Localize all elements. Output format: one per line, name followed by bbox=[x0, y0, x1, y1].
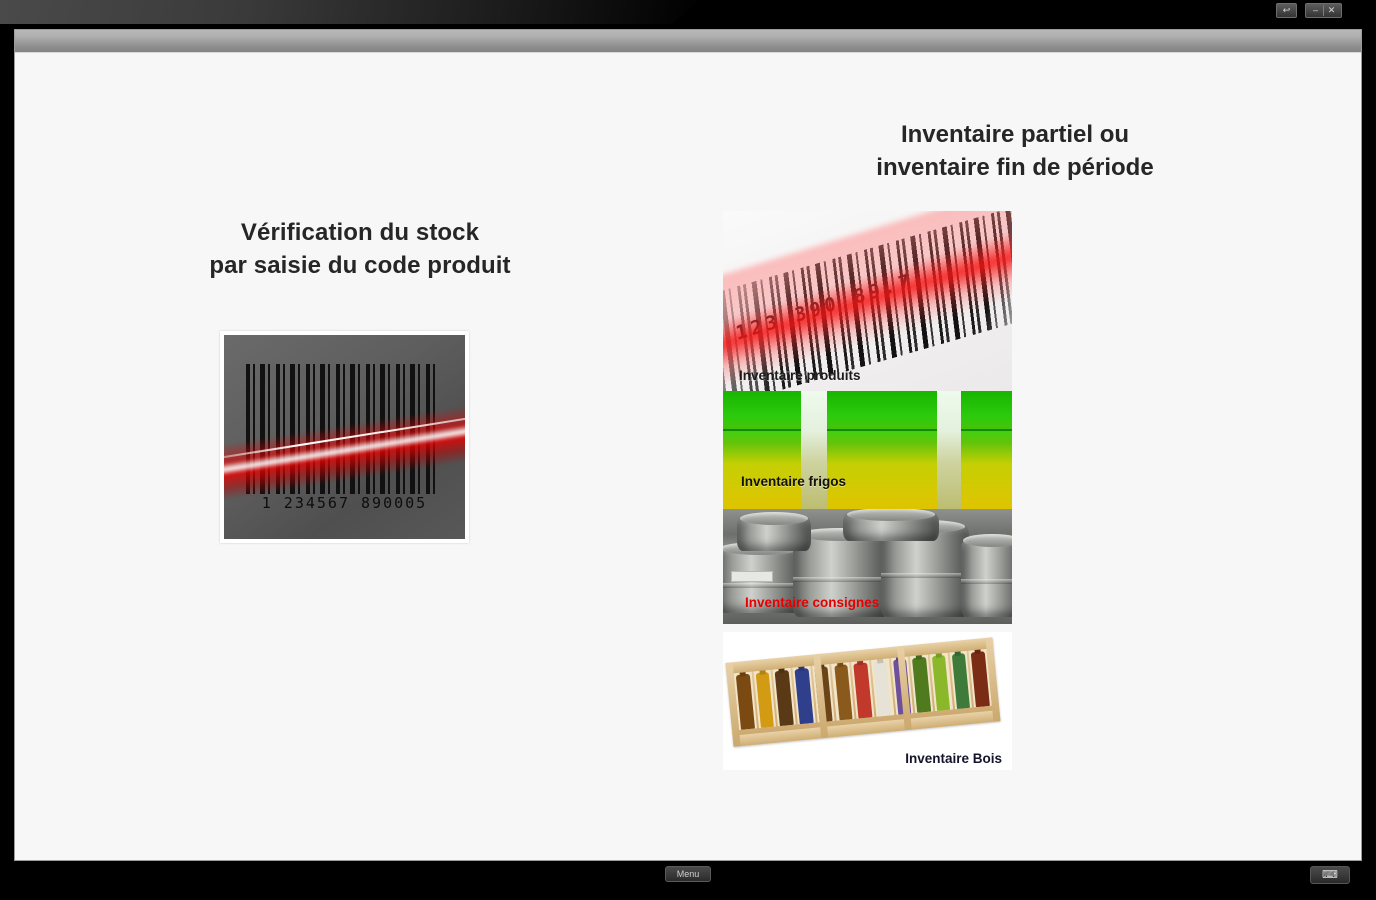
system-bottom-bar: Menu ⌨ bbox=[0, 862, 1376, 900]
keyboard-toggle-button[interactable]: ⌨ bbox=[1310, 866, 1350, 884]
close-icon[interactable]: ✕ bbox=[1324, 4, 1339, 17]
barcode-photo: 123 390 89.7 bbox=[723, 211, 1012, 391]
bezel-sheen bbox=[0, 0, 700, 24]
inventory-tile-frigos[interactable]: Inventaire frigos bbox=[723, 391, 1012, 509]
window-controls: ↩ – ✕ bbox=[1276, 3, 1342, 18]
inventory-tile-label: Inventaire consignes bbox=[745, 595, 879, 610]
inventory-tile-label: Inventaire frigos bbox=[741, 474, 846, 489]
inventory-tile-label: Inventaire produits bbox=[739, 368, 861, 383]
window-buttons-group: – ✕ bbox=[1305, 3, 1342, 18]
inventory-title: Inventaire partiel ou inventaire fin de … bbox=[705, 118, 1325, 184]
stock-check-title: Vérification du stock par saisie du code… bbox=[15, 216, 705, 282]
inventory-tile-label: Inventaire Bois bbox=[905, 751, 1002, 766]
barcode-digits: 1 234567 890005 bbox=[243, 494, 445, 512]
device-frame: ↩ – ✕ Vérification du stock par saisie d… bbox=[0, 0, 1376, 900]
menu-button[interactable]: Menu bbox=[665, 866, 711, 882]
barcode-illustration: 1 234567 890005 bbox=[224, 335, 465, 539]
inventory-tile-bois[interactable]: Inventaire Bois bbox=[723, 632, 1012, 770]
barcode-scan-button[interactable]: 1 234567 890005 bbox=[220, 331, 469, 543]
app-content: Vérification du stock par saisie du code… bbox=[15, 53, 1361, 861]
keyboard-icon: ⌨ bbox=[1322, 870, 1338, 881]
minimize-icon[interactable]: – bbox=[1308, 4, 1323, 17]
back-icon[interactable]: ↩ bbox=[1279, 4, 1294, 17]
inventory-tile-consignes[interactable]: Inventaire consignes bbox=[723, 509, 1012, 624]
inventory-tile-produits[interactable]: 123 390 89.7 Inventaire produits bbox=[723, 211, 1012, 391]
stock-check-panel: Vérification du stock par saisie du code… bbox=[15, 53, 705, 861]
inventory-panel: Inventaire partiel ou inventaire fin de … bbox=[705, 53, 1362, 861]
wooden-crate-photo bbox=[726, 637, 1001, 746]
inventory-tile-list: 123 390 89.7 Inventaire produits bbox=[723, 211, 1012, 770]
back-button-group[interactable]: ↩ bbox=[1276, 3, 1297, 18]
app-window: Vérification du stock par saisie du code… bbox=[14, 29, 1362, 861]
title-bar bbox=[15, 30, 1361, 53]
bottles-photo bbox=[723, 391, 1012, 509]
